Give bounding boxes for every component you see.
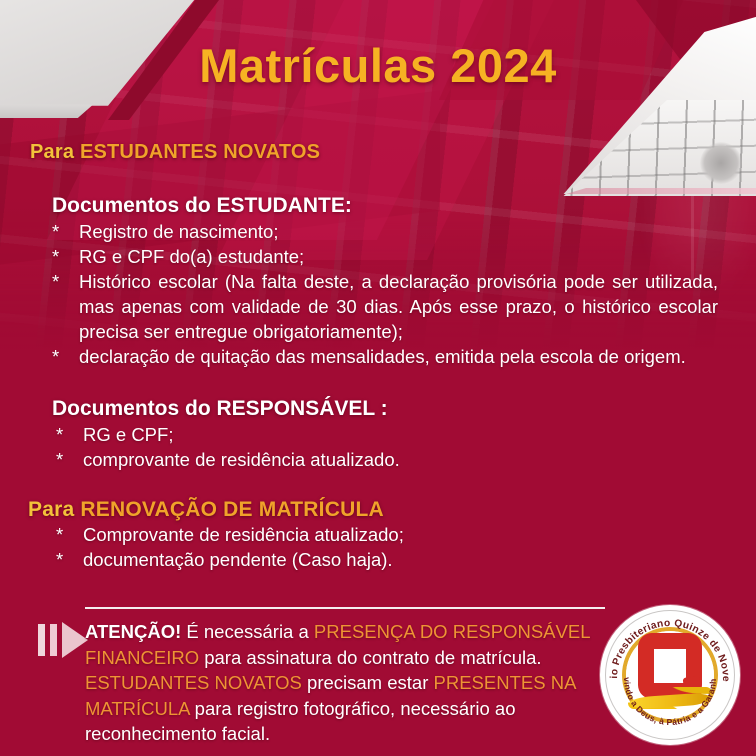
content-layer: Matrículas 2024 Para ESTUDANTES NOVATOS … [0, 0, 756, 756]
kicker-novatos: Para ESTUDANTES NOVATOS [30, 141, 320, 164]
list-item: declaração de quitação das mensalidades,… [46, 344, 718, 369]
asterisk-bullet-icon [52, 344, 59, 369]
asterisk-bullet-icon [56, 422, 63, 447]
list-documentos-estudante: Registro de nascimento; RG e CPF do(a) e… [46, 219, 718, 369]
logo-circular-text: Colégio Presbiteriano Quinze de Novembro… [600, 605, 740, 745]
list-renovacao: Comprovante de residência atualizado; do… [46, 522, 566, 572]
list-item: documentação pendente (Caso haja). [46, 547, 566, 572]
asterisk-bullet-icon [56, 522, 63, 547]
heading-documentos-responsavel: Documentos do RESPONSÁVEL : [52, 397, 388, 421]
asterisk-bullet-icon [56, 547, 63, 572]
attention-part-1: É necessária a [181, 621, 314, 642]
list-item-text: Comprovante de residência atualizado; [83, 524, 404, 545]
list-item-text: Registro de nascimento; [79, 221, 279, 242]
list-item-text: RG e CPF do(a) estudante; [79, 246, 304, 267]
asterisk-bullet-icon [52, 244, 59, 269]
logo-top-text: Colégio Presbiteriano Quinze de Novembro [600, 605, 731, 682]
heading-documentos-estudante: Documentos do ESTUDANTE: [52, 194, 352, 218]
arrow-bar-1 [38, 624, 45, 656]
kicker-emphasis: ESTUDANTES NOVATOS [80, 141, 320, 163]
asterisk-bullet-icon [52, 269, 59, 294]
school-logo: Colégio Presbiteriano Quinze de Novembro… [600, 605, 740, 745]
list-item-text: declaração de quitação das mensalidades,… [79, 346, 686, 367]
attention-lead: ATENÇÃO! [85, 621, 181, 642]
list-item-text: documentação pendente (Caso haja). [83, 549, 393, 570]
poster-root: Matrículas 2024 Para ESTUDANTES NOVATOS … [0, 0, 756, 756]
asterisk-bullet-icon [52, 219, 59, 244]
kicker-renovacao: Para RENOVAÇÃO DE MATRÍCULA [28, 498, 384, 522]
asterisk-bullet-icon [56, 447, 63, 472]
list-item-text: comprovante de residência atualizado. [83, 449, 400, 470]
list-item-text: RG e CPF; [83, 424, 173, 445]
list-item-text: Histórico escolar (Na falta deste, a dec… [79, 271, 718, 342]
poster-title: Matrículas 2024 [0, 38, 756, 93]
list-item: RG e CPF; [46, 422, 546, 447]
logo-top-textpath: Colégio Presbiteriano Quinze de Novembro [600, 605, 731, 682]
attention-paragraph: ATENÇÃO! É necessária a PRESENÇA DO RESP… [85, 619, 597, 747]
list-item: Comprovante de residência atualizado; [46, 522, 566, 547]
attention-part-2: para assinatura do contrato de matrícula… [199, 647, 541, 668]
list-documentos-responsavel: RG e CPF; comprovante de residência atua… [46, 422, 546, 472]
arrow-bar-2 [50, 624, 57, 656]
list-item: RG e CPF do(a) estudante; [46, 244, 718, 269]
list-item: Histórico escolar (Na falta deste, a dec… [46, 269, 718, 344]
attention-divider [85, 607, 605, 609]
kicker-prefix: Para [30, 141, 74, 163]
list-item: comprovante de residência atualizado. [46, 447, 546, 472]
list-item: Registro de nascimento; [46, 219, 718, 244]
attention-part-3: precisam estar [302, 672, 434, 693]
attention-highlight-2: ESTUDANTES NOVATOS [85, 672, 302, 693]
kicker-renovacao-prefix: Para [28, 498, 74, 521]
kicker-renovacao-emphasis: RENOVAÇÃO DE MATRÍCULA [80, 498, 383, 521]
